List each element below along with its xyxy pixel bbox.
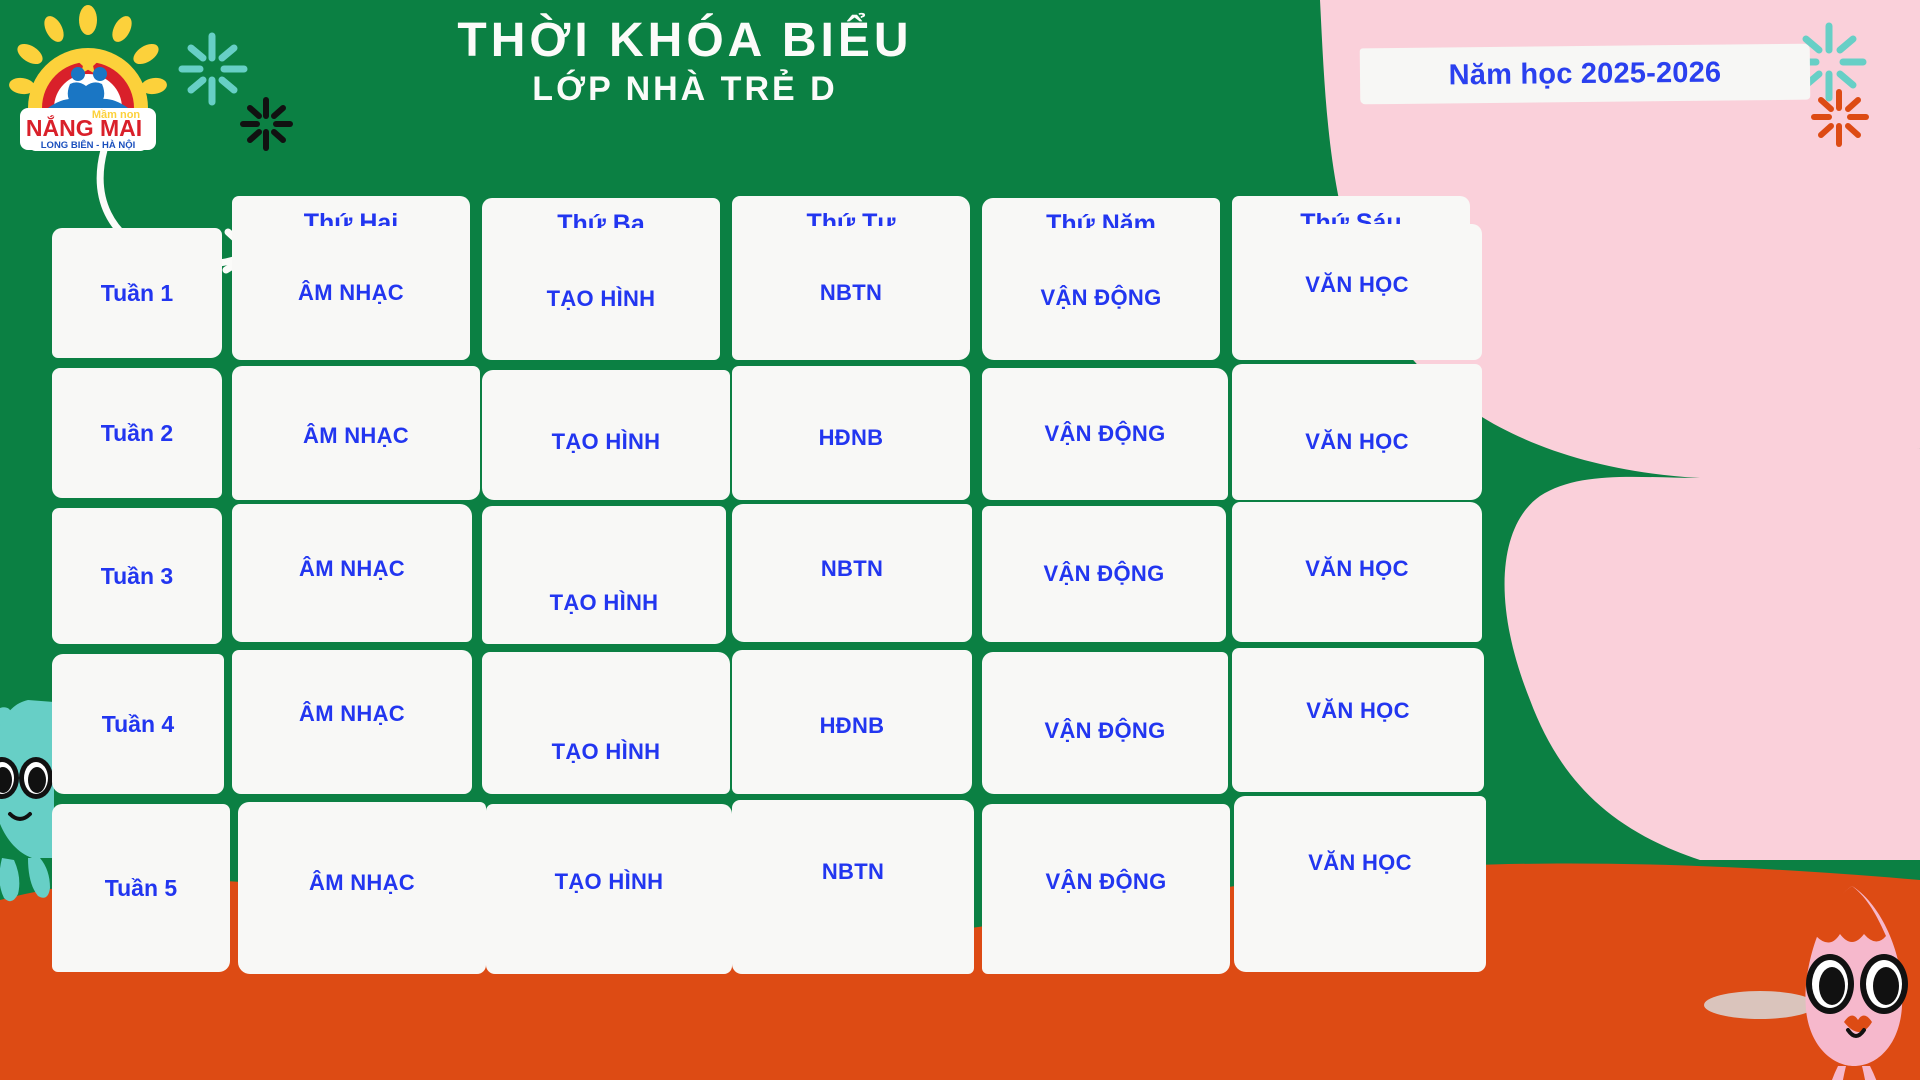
school-logo: Mầm non NẮNG MAI LONG BIÊN - HÀ NỘI	[8, 4, 168, 154]
cell-w5-d4: VẬN ĐỘNG	[982, 804, 1230, 974]
cell-w5-d5: VĂN HỌC	[1234, 796, 1486, 972]
cell-w4-d2: TẠO HÌNH	[482, 652, 730, 794]
cell-w2-d1: ÂM NHẠC	[232, 366, 480, 500]
cell-w3-d2: TẠO HÌNH	[482, 506, 726, 644]
week-label-2: Tuần 2	[52, 368, 222, 498]
logo-main-text: NẮNG MAI	[26, 114, 142, 141]
cell-w4-d4: VẬN ĐỘNG	[982, 652, 1228, 794]
cell-w5-d1: ÂM NHẠC	[238, 802, 486, 974]
cell-w3-d4: VẬN ĐỘNG	[982, 506, 1226, 642]
cell-w2-d4: VẬN ĐỘNG	[982, 368, 1228, 500]
cell-w5-d3: NBTN	[732, 800, 974, 974]
cell-w5-d2: TẠO HÌNH	[486, 804, 732, 974]
cell-w2-d5: VĂN HỌC	[1232, 364, 1482, 500]
cell-w3-d3: NBTN	[732, 504, 972, 642]
logo-sub-text: LONG BIÊN - HÀ NỘI	[41, 139, 135, 151]
school-year-badge: Năm học 2025-2026	[1360, 44, 1811, 105]
cell-w1-d5: VĂN HỌC	[1232, 224, 1482, 360]
timetable-grid: Thứ Hai Thứ Ba Thứ Tư Thứ Năm Thứ Sáu Tu…	[52, 196, 1820, 1071]
cell-w3-d5: VĂN HỌC	[1232, 502, 1482, 642]
week-label-1: Tuần 1	[52, 228, 222, 358]
cell-w4-d5: VĂN HỌC	[1232, 648, 1484, 792]
cell-w4-d3: HĐNB	[732, 650, 972, 794]
page-title-block: THỜI KHÓA BIỂU LỚP NHÀ TRẺ D	[380, 16, 990, 109]
week-label-3: Tuần 3	[52, 508, 222, 644]
cell-w1-d4: VẬN ĐỘNG	[982, 228, 1220, 360]
page-title: THỜI KHÓA BIỂU	[380, 16, 990, 66]
page-subtitle: LỚP NHÀ TRẺ D	[380, 70, 990, 109]
cell-w4-d1: ÂM NHẠC	[232, 650, 472, 794]
cell-w1-d2: TẠO HÌNH	[482, 228, 720, 360]
school-year-label: Năm học 2025-2026	[1449, 56, 1722, 92]
cell-w1-d1: ÂM NHẠC	[232, 226, 470, 360]
week-label-4: Tuần 4	[52, 654, 224, 794]
cell-w3-d1: ÂM NHẠC	[232, 504, 472, 642]
cell-w2-d2: TẠO HÌNH	[482, 370, 730, 500]
cell-w2-d3: HĐNB	[732, 366, 970, 500]
cell-w1-d3: NBTN	[732, 226, 970, 360]
week-label-5: Tuần 5	[52, 804, 230, 972]
